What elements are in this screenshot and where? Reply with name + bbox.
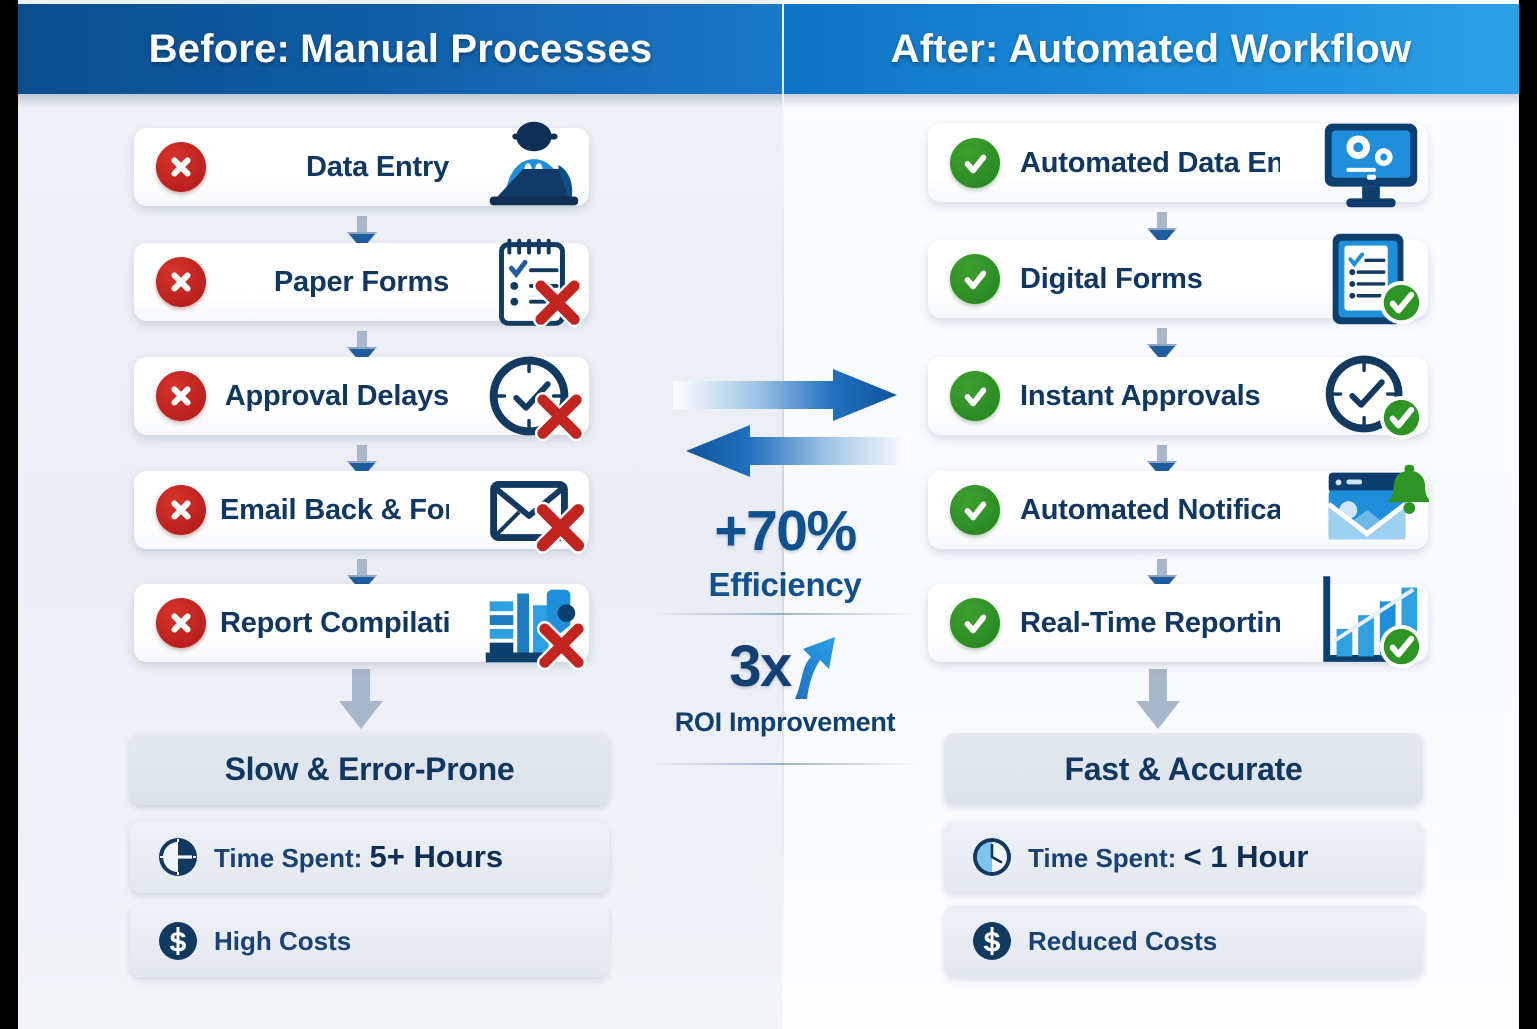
roi-value-row: 3x	[645, 633, 925, 701]
before-header-strong: Before:	[149, 27, 290, 72]
step-card-label: Automated Data Entry	[1020, 147, 1280, 180]
step-card-email-back-forth[interactable]: Email Back & Forth	[134, 471, 589, 549]
after-header-strong: After:	[891, 27, 999, 72]
x-circle-icon	[156, 142, 206, 192]
roi-metric: 3x ROI Improvement	[645, 633, 925, 738]
efficiency-label: Efficiency	[645, 566, 925, 604]
efficiency-metric: +70% Efficiency	[645, 503, 925, 604]
mail-bell-icon	[1304, 455, 1436, 565]
metrics-divider-bottom	[651, 763, 919, 765]
summary-arrow-down-icon	[335, 669, 387, 731]
check-circle-icon	[950, 371, 1000, 421]
before-time-spent-row: Time Spent: 5+ Hours	[130, 821, 609, 893]
step-card-label: Data Entry	[220, 151, 449, 184]
envelope-x-icon	[465, 455, 597, 565]
roi-value: 3x	[729, 638, 791, 696]
efficiency-value: +70%	[645, 503, 925, 560]
before-cost-row: S High Costs	[130, 905, 609, 977]
before-cost-text: High Costs	[214, 926, 351, 957]
roi-label: ROI Improvement	[645, 707, 925, 738]
clock-x-icon	[465, 341, 597, 451]
step-card-automated-notifications[interactable]: Automated Notifications	[928, 471, 1428, 549]
before-header-shadow	[18, 94, 783, 108]
step-card-digital-forms[interactable]: Digital Forms	[928, 240, 1428, 318]
arrow-right-icon	[673, 367, 898, 423]
clock-check-icon	[1304, 341, 1436, 451]
check-circle-icon	[950, 598, 1000, 648]
step-card-approval-delays[interactable]: Approval Delays	[134, 357, 589, 435]
bar-chart-check-icon	[1304, 568, 1436, 678]
step-card-label: Automated Notifications	[1020, 494, 1280, 527]
step-card-label: Digital Forms	[1020, 263, 1280, 296]
step-card-paper-forms[interactable]: Paper Forms	[134, 243, 589, 321]
check-circle-icon	[950, 254, 1000, 304]
step-card-label: Paper Forms	[220, 266, 449, 299]
metrics-divider-top	[651, 613, 919, 615]
arrow-left-icon	[673, 423, 910, 479]
x-circle-icon	[156, 598, 206, 648]
after-header-shadow	[783, 94, 1519, 108]
person-laptop-icon	[465, 112, 597, 222]
step-card-report-compilation[interactable]: Report Compilation	[134, 584, 589, 662]
step-card-data-entry[interactable]: Data Entry	[134, 128, 589, 206]
monitor-gears-icon	[1304, 108, 1436, 218]
after-time-spent-row: Time Spent: < 1 Hour	[944, 821, 1423, 893]
infographic-canvas: Before: Manual Processes After: Automate…	[0, 0, 1537, 1029]
step-card-label: Real-Time Reporting	[1020, 607, 1280, 640]
after-header-light: Automated Workflow	[1009, 27, 1412, 72]
tablet-form-check-icon	[1304, 224, 1436, 334]
center-metrics: +70% Efficiency 3x	[645, 355, 925, 785]
before-summary-title-text: Slow & Error-Prone	[225, 751, 515, 788]
before-header: Before: Manual Processes	[18, 4, 783, 94]
after-header: After: Automated Workflow	[783, 4, 1519, 94]
before-time-spent-text: Time Spent: 5+ Hours	[214, 839, 503, 875]
after-summary-title-text: Fast & Accurate	[1065, 751, 1303, 788]
step-card-real-time-reporting[interactable]: Real-Time Reporting	[928, 584, 1428, 662]
step-card-label: Approval Delays	[220, 380, 449, 413]
check-circle-icon	[950, 485, 1000, 535]
after-time-spent-text: Time Spent: < 1 Hour	[1028, 839, 1308, 875]
summary-arrow-down-icon	[1132, 669, 1184, 731]
x-circle-icon	[156, 371, 206, 421]
after-cost-row: S Reduced Costs	[944, 905, 1423, 977]
step-card-instant-approvals[interactable]: Instant Approvals	[928, 357, 1428, 435]
clock-icon	[156, 835, 200, 879]
before-summary-title: Slow & Error-Prone	[130, 733, 609, 805]
clipboard-x-icon	[465, 227, 597, 337]
dollar-icon: S	[970, 919, 1014, 963]
report-x-icon	[465, 568, 597, 678]
growth-arrow-icon	[789, 633, 841, 701]
step-card-label: Report Compilation	[220, 607, 449, 640]
dollar-icon: S	[156, 919, 200, 963]
after-summary-title: Fast & Accurate	[944, 733, 1423, 805]
step-card-label: Instant Approvals	[1020, 380, 1280, 413]
x-circle-icon	[156, 485, 206, 535]
check-circle-icon	[950, 138, 1000, 188]
step-card-label: Email Back & Forth	[220, 494, 449, 527]
after-cost-text: Reduced Costs	[1028, 926, 1217, 957]
before-header-light: Manual Processes	[300, 27, 652, 72]
clock-icon	[970, 835, 1014, 879]
step-card-automated-data-entry[interactable]: Automated Data Entry	[928, 124, 1428, 202]
x-circle-icon	[156, 257, 206, 307]
